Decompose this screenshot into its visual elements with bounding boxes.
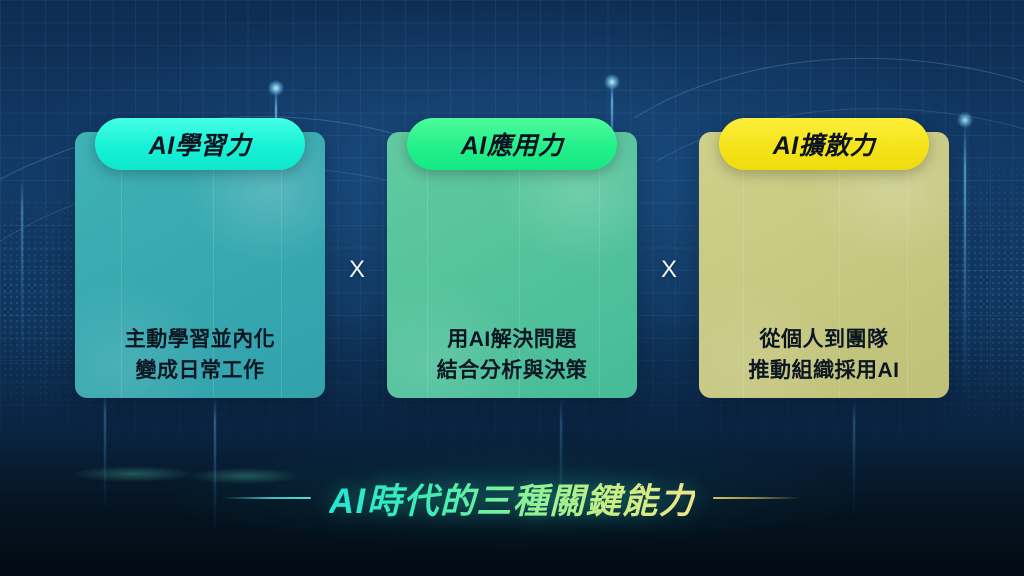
footer-title: AI時代的三種關鍵能力 [329, 473, 696, 524]
card-headline: 主動學習並內化 變成日常工作 [75, 324, 325, 386]
slide-canvas: 主動學習並內化 變成日常工作 主動積極│自我發展 執行力│追求卓越 工作活力 A… [0, 0, 1024, 576]
capability-badge-diffusion[interactable]: AI擴散力 [719, 118, 929, 170]
capability-card-diffusion[interactable]: 從個人到團隊 推動組織採用AI 溝通能力│影響說服 跨團隊協作│領導魄力 發展他… [699, 132, 949, 398]
capability-card-learning[interactable]: 主動學習並內化 變成日常工作 主動積極│自我發展 執行力│追求卓越 工作活力 [75, 132, 325, 398]
capability-badge-learning[interactable]: AI學習力 [95, 118, 305, 170]
headline-line: 推動組織採用AI [699, 355, 949, 386]
headline-line: 變成日常工作 [75, 355, 325, 386]
slide-footer: AI時代的三種關鍵能力 [0, 468, 1024, 528]
card-headline: 從個人到團隊 推動組織採用AI [699, 324, 949, 386]
multiply-separator-icon: X [337, 250, 377, 290]
headline-line: 主動學習並內化 [75, 324, 325, 355]
multiply-separator-icon: X [649, 250, 689, 290]
card-headline: 用AI解決問題 結合分析與決策 [387, 324, 637, 386]
headline-line: 用AI解決問題 [387, 324, 637, 355]
footer-rule-left [223, 497, 311, 499]
capability-badge-application[interactable]: AI應用力 [407, 118, 617, 170]
headline-line: 結合分析與決策 [387, 355, 637, 386]
capability-card-application[interactable]: 用AI解決問題 結合分析與決策 分析思考│問題解決 創新能力│策略性思考 商業敏… [387, 132, 637, 398]
footer-rule-right [713, 497, 801, 499]
headline-line: 從個人到團隊 [699, 324, 949, 355]
